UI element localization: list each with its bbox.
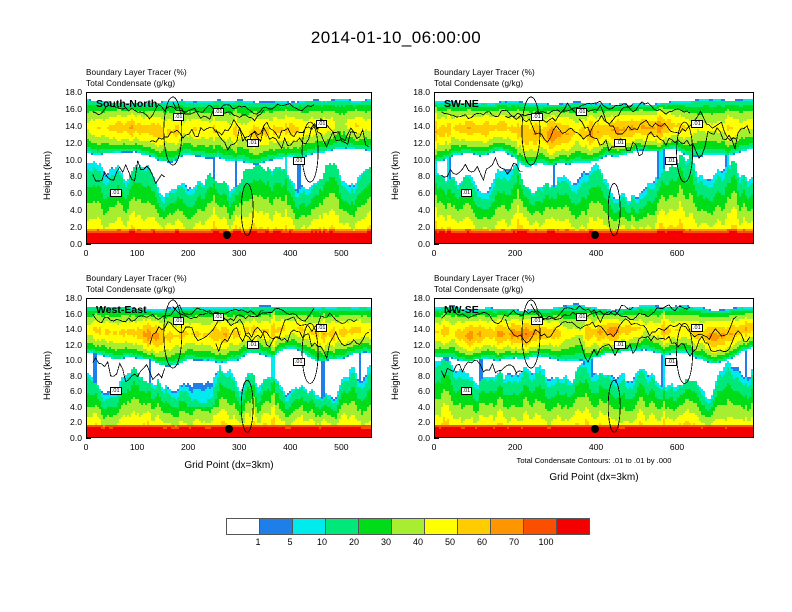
contour-value-label: .01	[665, 358, 677, 366]
y-axis-tick	[86, 244, 91, 245]
y-axis-tick-label: 16.0	[400, 104, 430, 114]
contour-value-label: .01	[531, 317, 543, 325]
contour-value-label: .01	[665, 157, 677, 165]
panel-header: Boundary Layer Tracer (%)Total Condensat…	[86, 68, 187, 89]
cross-section-plot-south-north[interactable]: South-North.01.01.01.01.01.01	[86, 92, 372, 244]
x-axis-tick-label: 400	[270, 248, 310, 258]
panel-label-sw-ne: SW-NE	[444, 98, 479, 110]
colorbar-swatch	[491, 519, 524, 534]
y-axis-tick-label: 6.0	[52, 386, 82, 396]
colorbar-swatch	[392, 519, 425, 534]
contour-value-label: .01	[614, 341, 626, 349]
y-axis-tick-label: 14.0	[400, 324, 430, 334]
x-axis-tick-label: 200	[168, 248, 208, 258]
x-axis-tick-label: 0	[66, 442, 106, 452]
colorbar-swatch	[293, 519, 326, 534]
y-axis-tick-label: 18.0	[400, 293, 430, 303]
x-axis-tick-label: 600	[657, 248, 697, 258]
colorbar-swatch	[359, 519, 392, 534]
cross-section-plot-west-east[interactable]: West-East.01.01.01.01.01.01	[86, 298, 372, 438]
y-axis-tick-label: 14.0	[52, 121, 82, 131]
y-axis-tick-label: 18.0	[400, 87, 430, 97]
x-axis-tick-label: 400	[270, 442, 310, 452]
contour-value-label: .01	[173, 317, 185, 325]
y-axis-tick-label: 4.0	[52, 402, 82, 412]
contour-value-label: .01	[316, 120, 328, 128]
cross-section-plot-nw-se[interactable]: NW-SE.01.01.01.01.01.01	[434, 298, 754, 438]
y-axis-tick-label: 2.0	[400, 222, 430, 232]
x-axis-tick-label: 300	[219, 442, 259, 452]
contour-value-label: .01	[316, 324, 328, 332]
y-axis-tick-label: 4.0	[400, 402, 430, 412]
y-axis-tick-label: 2.0	[52, 222, 82, 232]
condensate-field-label: Total Condensate (g/kg)	[434, 79, 535, 90]
y-axis-tick-label: 4.0	[400, 205, 430, 215]
x-axis-label: Grid Point (dx=3km)	[504, 472, 684, 483]
colorbar-swatch	[425, 519, 458, 534]
contour-value-label: .01	[213, 313, 225, 321]
colorbar-tick-label: 100	[526, 537, 566, 547]
y-axis-tick-label: 8.0	[400, 371, 430, 381]
contour-value-label: .01	[110, 189, 122, 197]
y-axis-tick-label: 18.0	[52, 87, 82, 97]
station-marker	[591, 231, 599, 239]
panel-header: Boundary Layer Tracer (%)Total Condensat…	[86, 274, 187, 295]
y-axis-tick-label: 16.0	[52, 104, 82, 114]
x-axis-tick-label: 200	[168, 442, 208, 452]
condensate-field-label: Total Condensate (g/kg)	[86, 79, 187, 90]
contour-value-label: .01	[247, 139, 259, 147]
x-axis-tick-label: 300	[219, 248, 259, 258]
tracer-field-label: Boundary Layer Tracer (%)	[434, 274, 535, 285]
condensate-field-label: Total Condensate (g/kg)	[434, 285, 535, 296]
y-axis-tick-label: 2.0	[400, 417, 430, 427]
y-axis-tick-label: 8.0	[52, 171, 82, 181]
x-axis-tick-label: 0	[66, 248, 106, 258]
y-axis-tick-label: 4.0	[52, 205, 82, 215]
panel-label-nw-se: NW-SE	[444, 304, 479, 316]
x-axis-tick-label: 500	[321, 442, 361, 452]
y-axis-tick-label: 8.0	[400, 171, 430, 181]
y-axis-tick-label: 6.0	[400, 188, 430, 198]
x-axis-label: Grid Point (dx=3km)	[139, 460, 319, 471]
y-axis-tick-label: 12.0	[52, 138, 82, 148]
x-axis-tick-label: 600	[657, 442, 697, 452]
tracer-field-label: Boundary Layer Tracer (%)	[86, 68, 187, 79]
y-axis-tick-label: 10.0	[52, 155, 82, 165]
y-axis-tick-label: 18.0	[52, 293, 82, 303]
contour-interval-note: Total Condensate Contours: .01 to .01 by…	[474, 456, 714, 465]
contour-value-label: .01	[461, 189, 473, 197]
x-axis-tick-label: 200	[495, 248, 535, 258]
y-axis-tick-label: 14.0	[400, 121, 430, 131]
contour-value-label: .01	[110, 387, 122, 395]
colorbar-swatch	[326, 519, 359, 534]
contour-value-label: .01	[531, 113, 543, 121]
contour-value-label: .01	[691, 120, 703, 128]
contour-value-label: .01	[614, 139, 626, 147]
panel-label-south-north: South-North	[96, 98, 157, 110]
x-axis-tick-label: 100	[117, 248, 157, 258]
y-axis-tick-label: 6.0	[400, 386, 430, 396]
contour-value-label: .01	[293, 157, 305, 165]
y-axis-tick	[434, 244, 439, 245]
colorbar-swatches	[226, 518, 590, 535]
x-axis-tick-label: 100	[117, 442, 157, 452]
panel-label-west-east: West-East	[96, 304, 147, 316]
figure-title: 2014-01-10_06:00:00	[0, 28, 792, 48]
y-axis-tick-label: 14.0	[52, 324, 82, 334]
x-axis-tick-label: 500	[321, 248, 361, 258]
colorbar-swatch	[557, 519, 589, 534]
contour-value-label: .01	[247, 341, 259, 349]
y-axis-tick-label: 8.0	[52, 371, 82, 381]
contour-value-label: .01	[173, 113, 185, 121]
y-axis-tick-label: 10.0	[400, 155, 430, 165]
x-axis-tick-label: 400	[576, 248, 616, 258]
colorbar-swatch	[458, 519, 491, 534]
y-axis-tick	[434, 438, 439, 439]
y-axis-tick-label: 6.0	[52, 188, 82, 198]
contour-value-label: .01	[213, 108, 225, 116]
station-marker	[225, 425, 233, 433]
contour-value-label: .01	[576, 313, 588, 321]
y-axis-tick-label: 10.0	[400, 355, 430, 365]
colorbar-swatch	[260, 519, 293, 534]
x-axis-tick-label: 400	[576, 442, 616, 452]
contour-value-label: .01	[691, 324, 703, 332]
condensate-field-label: Total Condensate (g/kg)	[86, 285, 187, 296]
y-axis-tick-label: 10.0	[52, 355, 82, 365]
contour-value-label: .01	[293, 358, 305, 366]
tracer-field-label: Boundary Layer Tracer (%)	[434, 68, 535, 79]
tracer-field-label: Boundary Layer Tracer (%)	[86, 274, 187, 285]
y-axis-tick-label: 12.0	[52, 340, 82, 350]
panel-header: Boundary Layer Tracer (%)Total Condensat…	[434, 68, 535, 89]
cross-section-plot-sw-ne[interactable]: SW-NE.01.01.01.01.01.01	[434, 92, 754, 244]
contour-value-label: .01	[576, 108, 588, 116]
y-axis-tick-label: 16.0	[52, 309, 82, 319]
colorbar-swatch	[227, 519, 260, 534]
x-axis-tick-label: 0	[414, 442, 454, 452]
y-axis-tick-label: 2.0	[52, 417, 82, 427]
colorbar-swatch	[524, 519, 557, 534]
x-axis-tick-label: 200	[495, 442, 535, 452]
x-axis-tick-label: 0	[414, 248, 454, 258]
y-axis-tick-label: 16.0	[400, 309, 430, 319]
station-marker	[591, 425, 599, 433]
figure-canvas: 2014-01-10_06:00:00 Boundary Layer Trace…	[0, 0, 792, 612]
y-axis-tick	[86, 438, 91, 439]
panel-header: Boundary Layer Tracer (%)Total Condensat…	[434, 274, 535, 295]
y-axis-tick-label: 12.0	[400, 340, 430, 350]
contour-value-label: .01	[461, 387, 473, 395]
y-axis-tick-label: 12.0	[400, 138, 430, 148]
